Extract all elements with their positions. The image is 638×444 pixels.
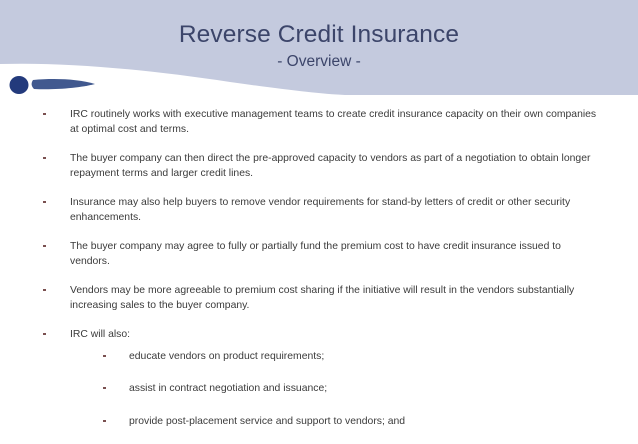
sub-bullet-marker-icon: [103, 355, 106, 357]
list-item: IRC routinely works with executive manag…: [41, 107, 601, 137]
bullet-list: IRC routinely works with executive manag…: [41, 107, 601, 444]
sub-list-item-text: provide post-placement service and suppo…: [129, 416, 405, 427]
sub-bullet-group: educate vendors on product requirements;…: [100, 349, 601, 444]
page-title: Reverse Credit Insurance: [0, 20, 638, 50]
sub-list-item: provide post-placement service and suppo…: [100, 414, 601, 429]
sub-list-item-text: assist in contract negotiation and issua…: [129, 383, 327, 394]
list-item: The buyer company may agree to fully or …: [41, 239, 601, 269]
list-item: The buyer company can then direct the pr…: [41, 151, 601, 181]
sub-bullet-marker-icon: [103, 387, 106, 389]
bullet-marker-icon: [43, 289, 46, 291]
title-block: Reverse Credit Insurance - Overview -: [0, 20, 638, 73]
slide: Reverse Credit Insurance - Overview - IR…: [0, 0, 638, 444]
sub-list-item-text: educate vendors on product requirements;: [129, 351, 324, 362]
list-item-text: IRC will also:: [70, 327, 601, 342]
bullet-marker-icon: [43, 333, 46, 335]
sub-list-item: educate vendors on product requirements;: [100, 349, 601, 364]
bullet-marker-icon: [43, 157, 46, 159]
list-item-text: Insurance may also help buyers to remove…: [70, 195, 601, 225]
slide-body: IRC routinely works with executive manag…: [0, 95, 638, 444]
list-item: IRC will also: educate vendors on produc…: [41, 327, 601, 444]
list-item-text: The buyer company can then direct the pr…: [70, 151, 601, 181]
sub-bullet-list: educate vendors on product requirements;…: [100, 349, 601, 444]
list-item-text: The buyer company may agree to fully or …: [70, 239, 601, 269]
list-item: Insurance may also help buyers to remove…: [41, 195, 601, 225]
bullet-marker-icon: [43, 201, 46, 203]
list-item: Vendors may be more agreeable to premium…: [41, 283, 601, 313]
circle-accent-icon: [10, 76, 29, 94]
bullet-marker-icon: [43, 245, 46, 247]
list-item-text: Vendors may be more agreeable to premium…: [70, 283, 601, 313]
sub-bullet-marker-icon: [103, 420, 106, 422]
sub-list-item: assist in contract negotiation and issua…: [100, 381, 601, 396]
slide-header: Reverse Credit Insurance - Overview -: [0, 0, 638, 95]
list-item-text: IRC routinely works with executive manag…: [70, 107, 601, 137]
page-subtitle: - Overview -: [0, 51, 638, 73]
bullet-marker-icon: [43, 113, 46, 115]
